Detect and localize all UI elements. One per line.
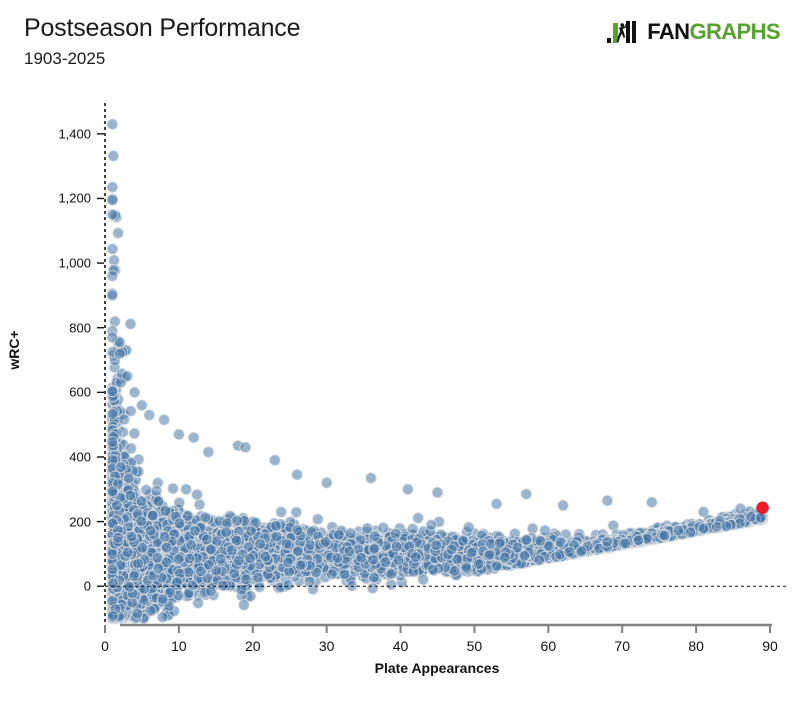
x-tick-90: 90 — [762, 638, 778, 654]
x-tick-10: 10 — [171, 638, 187, 654]
y-tick-1200: 1,200 — [58, 191, 91, 206]
y-tick-1400: 1,400 — [58, 126, 91, 141]
y-axis-label: wRC+ — [6, 330, 22, 369]
x-tick-80: 80 — [688, 638, 704, 654]
chart-page: Postseason Performance 1903-2025 FANGRAP… — [0, 0, 800, 700]
scatter-plot — [0, 0, 800, 700]
x-tick-70: 70 — [614, 638, 630, 654]
y-tick-0: 0 — [84, 579, 91, 594]
y-tick-400: 400 — [69, 449, 91, 464]
x-tick-0: 0 — [101, 638, 109, 654]
x-axis-label: Plate Appearances — [375, 660, 500, 676]
x-tick-50: 50 — [467, 638, 483, 654]
y-tick-800: 800 — [69, 320, 91, 335]
scatter-points — [107, 119, 768, 624]
highlighted-point[interactable] — [756, 502, 768, 514]
y-tick-200: 200 — [69, 514, 91, 529]
x-tick-60: 60 — [541, 638, 557, 654]
x-tick-30: 30 — [319, 638, 335, 654]
y-tick-600: 600 — [69, 385, 91, 400]
y-tick-1000: 1,000 — [58, 256, 91, 271]
x-tick-40: 40 — [393, 638, 409, 654]
x-tick-20: 20 — [245, 638, 261, 654]
